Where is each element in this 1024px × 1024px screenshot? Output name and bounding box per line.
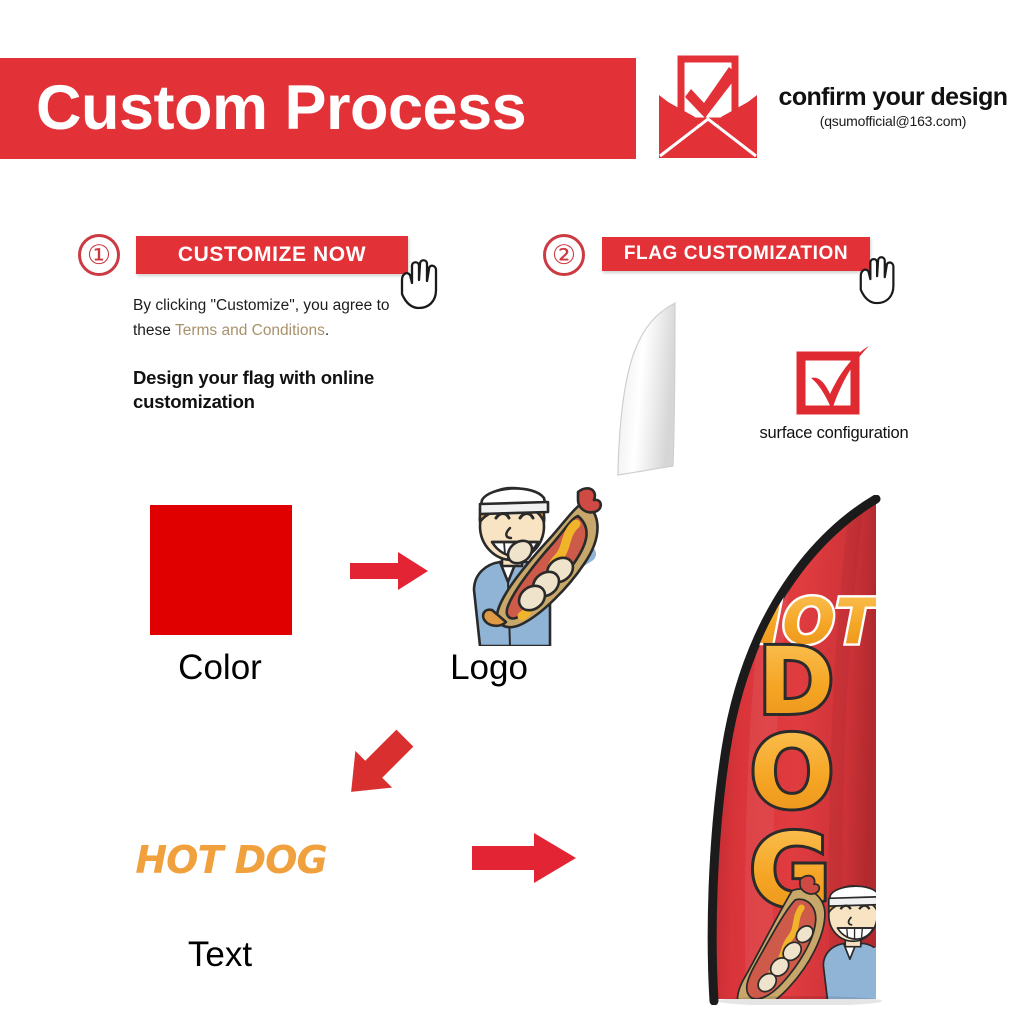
hot-dog-text-value: HOT DOG	[112, 838, 350, 882]
customize-now-label: CUSTOMIZE NOW	[178, 243, 366, 267]
surface-configuration-label: surface configuration	[722, 424, 946, 443]
logo-label: Logo	[400, 648, 578, 688]
confirm-design-block: confirm your design (qsumofficial@163.co…	[768, 84, 1018, 129]
hot-dog-feather-flag: HOT HOT D O G	[700, 495, 910, 1005]
terms-text: By clicking "Customize", you agree to th…	[133, 293, 408, 343]
arrow-right-icon	[348, 550, 430, 592]
red-checkbox-icon	[795, 346, 873, 418]
page-title: Custom Process	[0, 77, 526, 140]
text-label: Text	[110, 935, 330, 975]
color-label: Color	[110, 648, 330, 688]
arrow-right-icon	[470, 830, 578, 886]
flag-customization-button[interactable]: FLAG CUSTOMIZATION	[602, 237, 870, 271]
terms-and-conditions-link[interactable]: Terms and Conditions	[175, 322, 325, 339]
blank-feather-flag-icon	[605, 300, 700, 480]
header-banner: Custom Process	[0, 58, 636, 159]
confirm-design-title: confirm your design	[768, 84, 1018, 110]
color-swatch[interactable]	[150, 505, 292, 635]
step-1-number: ①	[78, 234, 120, 276]
envelope-check-icon	[655, 55, 761, 162]
step-2-number: ②	[543, 234, 585, 276]
terms-suffix: .	[325, 322, 329, 339]
hotdog-vendor-logo	[452, 478, 610, 646]
design-your-flag-note: Design your flag with online customizati…	[133, 366, 423, 413]
confirm-design-email: (qsumofficial@163.com)	[768, 113, 1018, 129]
flag-customization-label: FLAG CUSTOMIZATION	[624, 243, 848, 265]
customize-now-button[interactable]: CUSTOMIZE NOW	[136, 236, 408, 274]
hand-pointer-icon	[855, 253, 903, 309]
arrow-down-left-icon	[332, 722, 424, 808]
